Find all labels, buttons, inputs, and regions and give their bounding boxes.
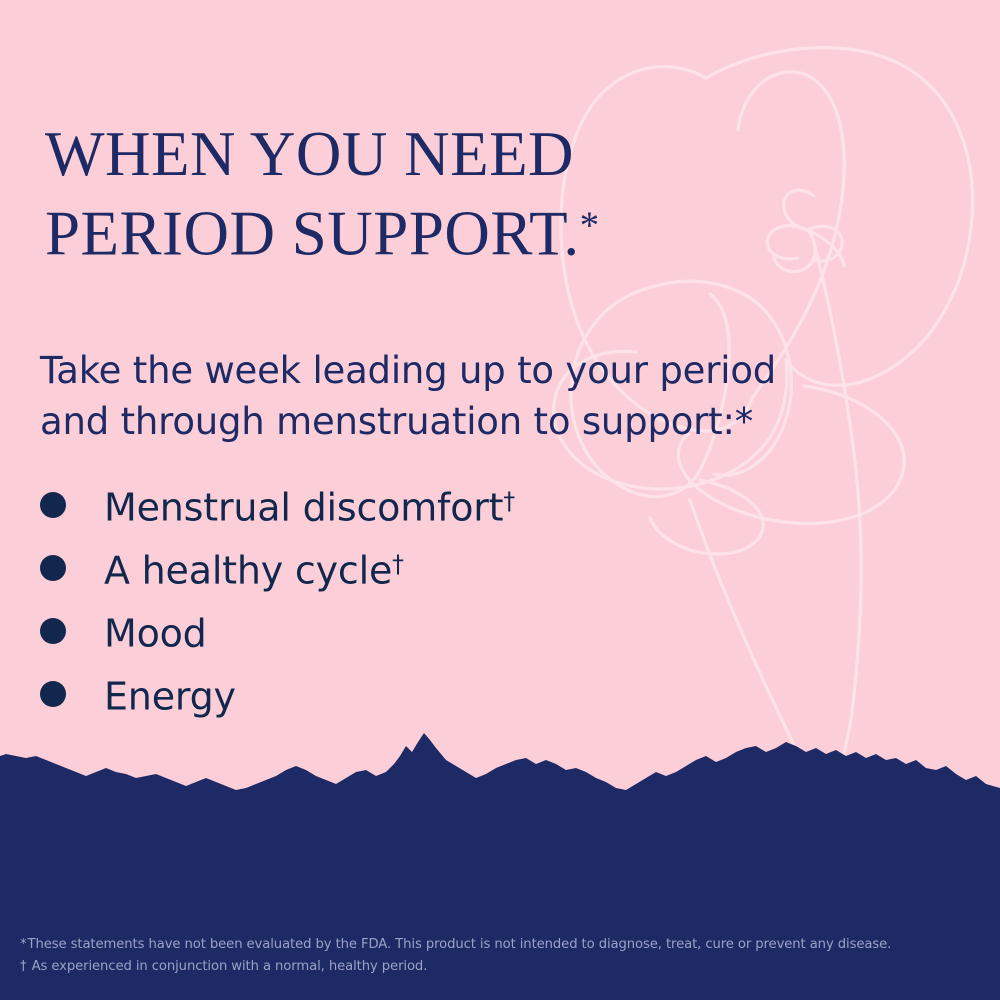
benefit-text: Mood [104, 612, 207, 656]
page-title: WHEN YOU NEED PERIOD SUPPORT.* [45, 118, 825, 269]
intro-line-2: and through menstruation to support:* [40, 400, 753, 443]
list-item: A healthy cycle† [40, 536, 515, 599]
bullet-dot-icon [40, 492, 66, 518]
list-item: Menstrual discomfort† [40, 473, 515, 536]
benefit-text: Menstrual discomfort [104, 486, 503, 530]
footnotes: *These statements have not been evaluate… [20, 934, 980, 978]
footnote-dagger-mark: † [20, 959, 27, 974]
benefit-label: Mood [104, 605, 207, 655]
headline-line-1: WHEN YOU NEED [45, 119, 574, 189]
bullet-dot-icon [40, 618, 66, 644]
headline-line-2: PERIOD SUPPORT. [45, 198, 580, 268]
headline-asterisk: * [580, 204, 600, 247]
poster-canvas: WHEN YOU NEED PERIOD SUPPORT.* Take the … [0, 0, 1000, 1000]
list-item: Energy [40, 662, 515, 725]
dagger-icon: † [503, 487, 515, 515]
benefit-text: A healthy cycle [104, 549, 392, 593]
footnote-fda: *These statements have not been evaluate… [20, 934, 980, 956]
footnote-text: These statements have not been evaluated… [28, 937, 892, 952]
benefit-label: Energy [104, 668, 236, 718]
footnote-asterisk: * [20, 937, 27, 952]
intro-line-1: Take the week leading up to your period [40, 349, 776, 392]
list-item: Mood [40, 599, 515, 662]
benefit-list: Menstrual discomfort† A healthy cycle† M… [40, 473, 515, 725]
intro-paragraph: Take the week leading up to your period … [40, 345, 940, 447]
benefit-text: Energy [104, 675, 236, 719]
dagger-icon: † [392, 550, 404, 578]
footnote-text: As experienced in conjunction with a nor… [28, 959, 428, 974]
footnote-dagger: † As experienced in conjunction with a n… [20, 956, 980, 978]
bullet-dot-icon [40, 681, 66, 707]
bullet-dot-icon [40, 555, 66, 581]
benefit-label: A healthy cycle† [104, 542, 404, 592]
benefit-label: Menstrual discomfort† [104, 479, 515, 529]
content-area: WHEN YOU NEED PERIOD SUPPORT.* Take the … [0, 0, 1000, 1000]
